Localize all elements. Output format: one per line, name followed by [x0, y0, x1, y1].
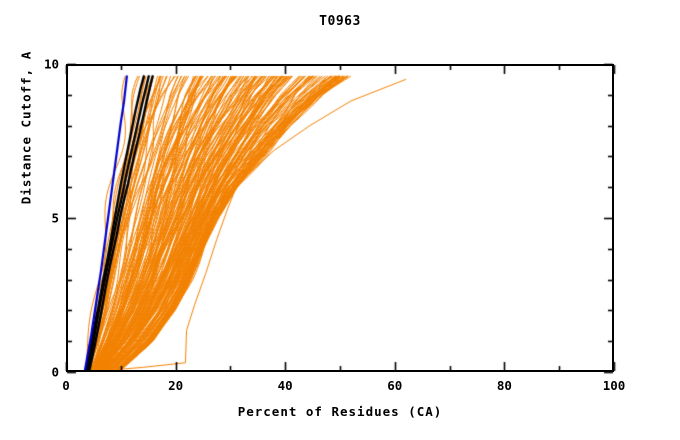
x-tick-label-20: 20: [168, 378, 183, 393]
x-tick-label-40: 40: [278, 378, 293, 393]
x-tick-label-0: 0: [62, 378, 70, 393]
chart-page: T0963 Distance Cutoff, A Percent of Resi…: [0, 0, 680, 440]
y-tick-label-0: 0: [33, 365, 59, 380]
y-tick-label-5: 5: [33, 211, 59, 226]
x-axis-label: Percent of Residues (CA): [66, 404, 614, 419]
x-tick-label-60: 60: [387, 378, 402, 393]
x-tick-label-80: 80: [497, 378, 512, 393]
y-axis-label: Distance Cutoff, A: [19, 0, 34, 278]
plot-area: [66, 64, 614, 372]
x-tick-label-100: 100: [603, 378, 626, 393]
plot-frame: [66, 64, 614, 372]
page-title: T0963: [0, 14, 680, 29]
y-tick-label-10: 10: [33, 57, 59, 72]
